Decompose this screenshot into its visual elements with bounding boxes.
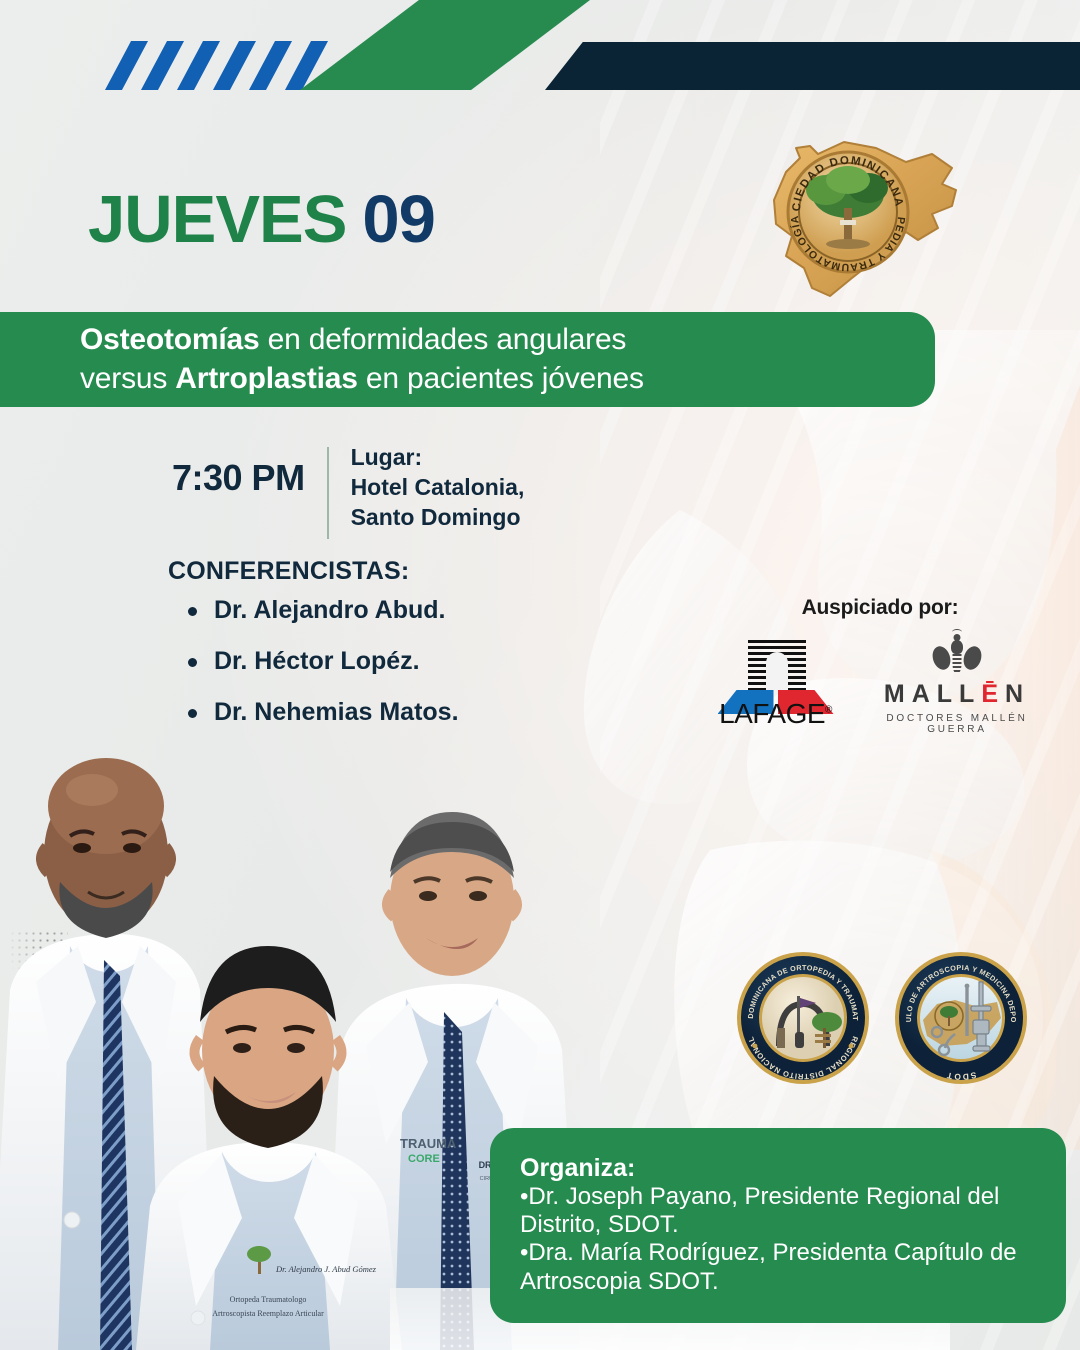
organizer-line-2: •Dra. María Rodríguez, Presidenta Capítu… — [520, 1239, 1036, 1296]
organizers-box: Organiza: •Dr. Joseph Payano, Presidente… — [490, 1128, 1066, 1323]
lafage-word-text: LAFAGE — [719, 698, 825, 729]
lafage-wordmark: LAFAGE® — [716, 698, 836, 730]
lafage-registered-mark: ® — [825, 705, 832, 716]
event-weekday: JUEVES — [88, 182, 346, 257]
speaker-item: Dr. Nehemias Matos. — [214, 700, 459, 725]
event-venue: Lugar: Hotel Catalonia, Santo Domingo — [351, 443, 525, 533]
doctor-center-coat-name: Dr. Alejandro J. Abud Gómez — [275, 1264, 377, 1274]
mallen-logo-icon: MALLĒN DOCTORES MALLÉN GUERRA — [870, 638, 1045, 730]
speaker-item: Dr. Alejandro Abud. — [214, 598, 459, 623]
venue-label: Lugar: — [351, 443, 525, 473]
organizers-heading: Organiza: — [520, 1154, 1036, 1183]
event-date: JUEVES09 — [88, 186, 435, 253]
seal-sdot-regional-icon: SOCIEDAD DOMINICANA DE ORTOPEDIA Y TRAUM… — [735, 950, 871, 1086]
bee-abdomen — [953, 654, 962, 674]
organization-seals: SOCIEDAD DOMINICANA DE ORTOPEDIA Y TRAUM… — [735, 950, 1029, 1086]
venue-line-2: Santo Domingo — [351, 503, 525, 533]
seal-capitulo-artroscopia-icon: CAPÍTULO DE ARTROSCOPIA Y MEDICINA DEPOR… — [893, 950, 1029, 1086]
sdot-map-badge-icon: SOCIEDAD DOMINICANA DE ORTOPEDIA Y TRAUM… — [752, 122, 972, 307]
lafage-logo-icon: LAFAGE® — [716, 638, 836, 730]
event-title: Osteotomías en deformidades angulares ve… — [80, 321, 644, 398]
sponsors-heading: Auspiciado por: — [700, 596, 1060, 620]
mallen-wordmark: MALLĒN — [870, 682, 1045, 707]
doctor-center-coat-title-2: Artroscopista Reemplazo Articular — [212, 1309, 324, 1318]
mallen-tagline: DOCTORES MALLÉN GUERRA — [870, 713, 1045, 735]
speakers-section: CONFERENCISTAS: Dr. Alejandro Abud. Dr. … — [168, 557, 459, 751]
vertical-divider — [327, 447, 329, 539]
bee-thorax — [951, 640, 963, 654]
trauma-core-coat-logo: TRAUMA — [400, 1136, 457, 1151]
trauma-core-coat-logo-2: CORE — [408, 1153, 440, 1165]
speakers-list: Dr. Alejandro Abud. Dr. Héctor Lopéz. Dr… — [214, 598, 459, 725]
lafage-arch-cutout — [766, 652, 788, 690]
title-keyword-2: Artroplastias — [175, 362, 357, 395]
mallen-word-pre: MALL — [884, 680, 981, 708]
time-and-place: 7:30 PM Lugar: Hotel Catalonia, Santo Do… — [172, 443, 524, 539]
sponsor-logos-row: LAFAGE® MALLĒN DOCTORES MALLÉN GUERRA — [700, 638, 1060, 730]
organizer-line-1: •Dr. Joseph Payano, Presidente Regional … — [520, 1183, 1036, 1240]
bee-wing-right — [961, 644, 985, 672]
title-pre-2: versus — [80, 362, 175, 395]
event-day-number: 09 — [362, 182, 435, 257]
speakers-heading: CONFERENCISTAS: — [168, 557, 459, 586]
title-rest-2: en pacientes jóvenes — [358, 362, 644, 395]
mallen-word-post: N — [1005, 680, 1030, 708]
venue-line-1: Hotel Catalonia, — [351, 473, 525, 503]
title-rest-1: en deformidades angulares — [260, 323, 627, 356]
title-keyword-1: Osteotomías — [80, 323, 260, 356]
bee-wing-left — [930, 644, 954, 672]
doctor-center-coat-title-1: Ortopeda Traumatologo — [230, 1295, 307, 1304]
event-time: 7:30 PM — [172, 443, 305, 499]
mallen-word-accent: Ē — [981, 680, 1005, 708]
bee-icon — [870, 638, 1045, 682]
speaker-item: Dr. Héctor Lopéz. — [214, 649, 459, 674]
sponsors-section: Auspiciado por: LAFAGE® MALLĒN DOCTORES … — [700, 596, 1060, 730]
title-banner: Osteotomías en deformidades angulares ve… — [0, 312, 935, 407]
navy-bar-decoration — [545, 42, 1080, 90]
